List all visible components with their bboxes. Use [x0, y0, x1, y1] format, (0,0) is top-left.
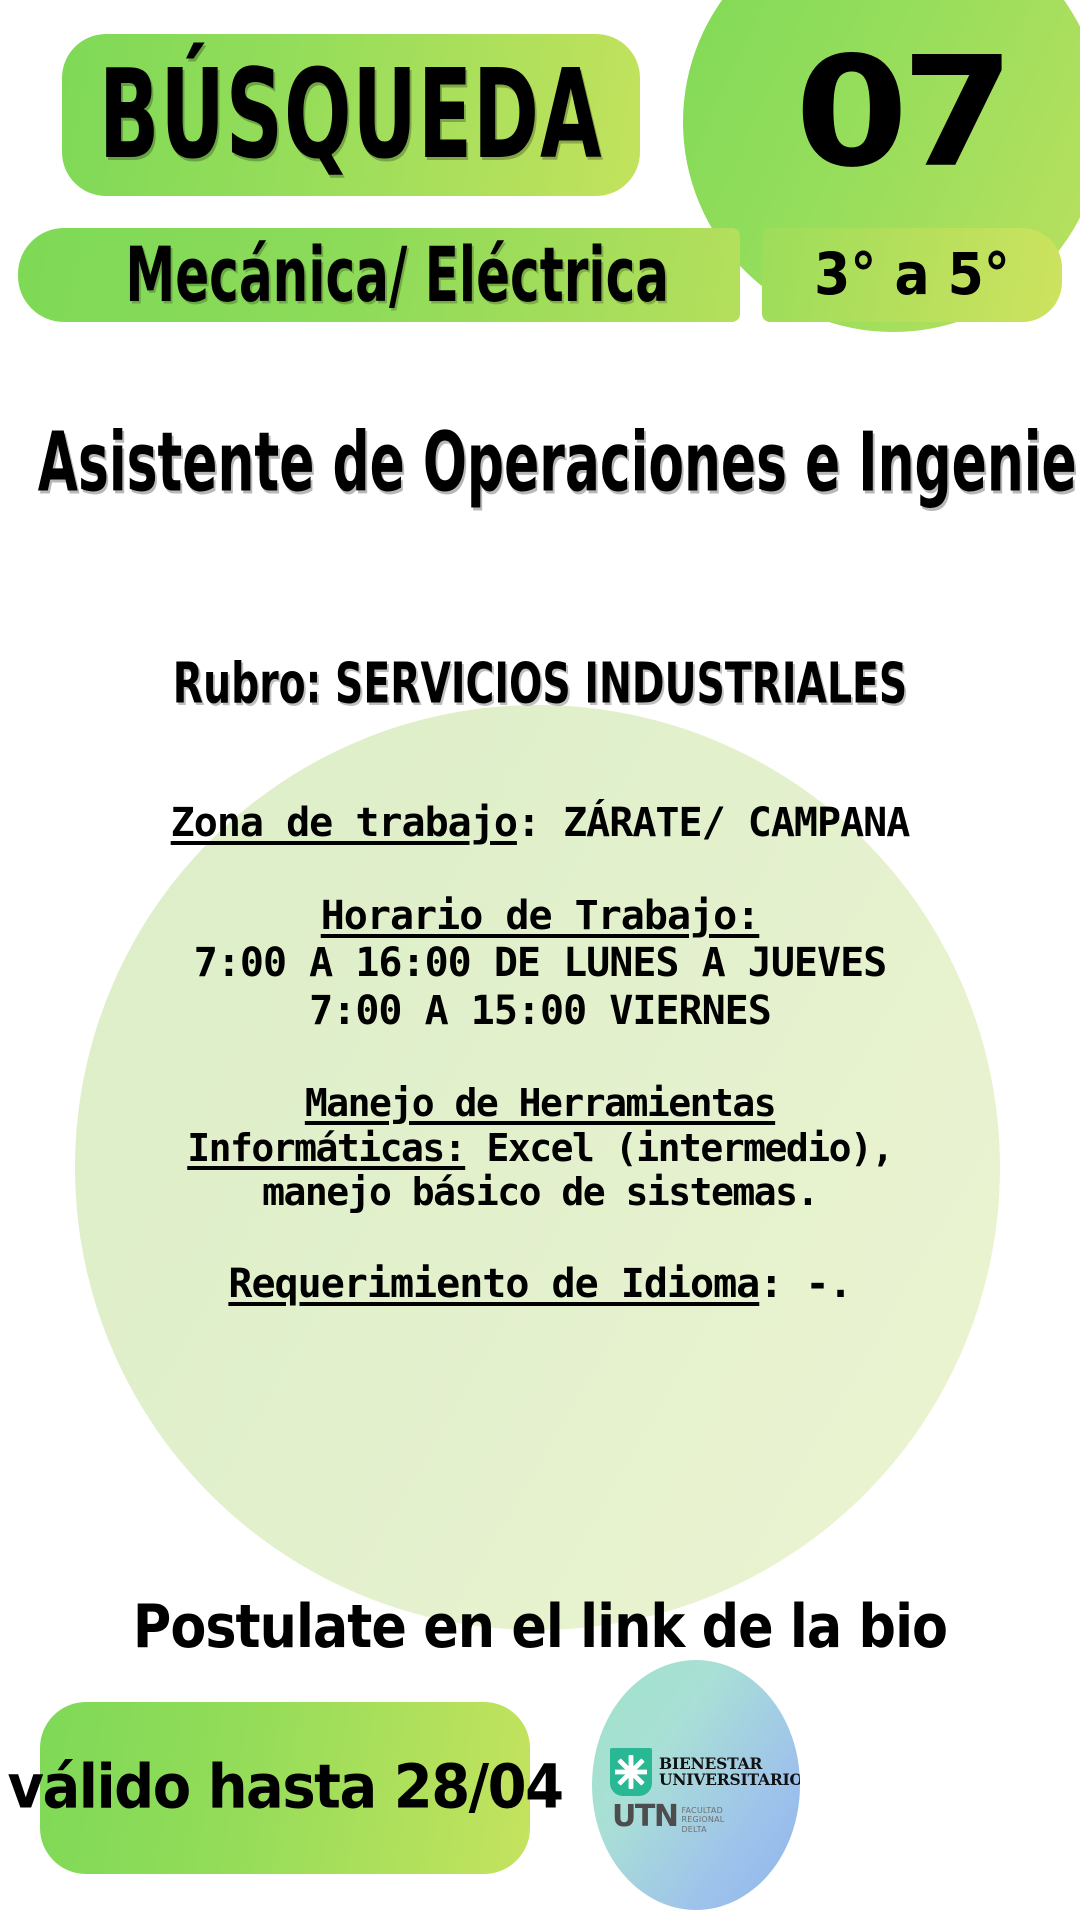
detail-language-value: -. [805, 1261, 851, 1307]
logo-wordmark-line-2: UNIVERSITARIO [659, 1772, 800, 1788]
tag-pill-row: Mecánica/ Eléctrica 3° a 5° [0, 228, 1080, 322]
detail-schedule-line-1: 7:00 A 16:00 DE LUNES A JUEVES [34, 940, 1046, 987]
detail-zone-label: Zona de trabajo [171, 800, 517, 846]
detail-tools-value-line-2: manejo básico de sistemas. [34, 1170, 1046, 1215]
utn-faculty-line-2: REGIONAL [681, 1815, 724, 1824]
discipline-pill: Mecánica/ Eléctrica [18, 228, 740, 322]
detail-schedule-line-2: 7:00 A 15:00 VIERNES [34, 988, 1046, 1035]
detail-language-line: Requerimiento de Idioma: -. [34, 1261, 1046, 1308]
detail-zone: Zona de trabajo: ZÁRATE/ CAMPANA [0, 800, 1080, 847]
detail-tools-label-line-2: Informáticas: Excel (intermedio), [34, 1126, 1046, 1171]
detail-language-separator: : [759, 1261, 782, 1307]
utn-faculty-text: FACULTAD REGIONAL DELTA [681, 1803, 724, 1834]
logo-content: BIENESTAR UNIVERSITARIO UTN FACULTAD REG… [610, 1748, 786, 1834]
job-posting-poster: 07 BÚSQUEDA Mecánica/ Eléctrica 3° a 5° … [0, 0, 1080, 1920]
issue-number-label: 07 [795, 37, 1007, 189]
argentina-sun-shield-icon [610, 1748, 652, 1796]
job-title: Asistente de Operaciones e Ingeniería [38, 422, 1042, 504]
detail-tools-label-2: Informáticas: [187, 1126, 465, 1170]
logo-primary-row: BIENESTAR UNIVERSITARIO [610, 1748, 786, 1796]
apply-call-to-action: Postulate en el link de la bio [16, 1597, 1064, 1656]
year-range-label: 3° a 5° [814, 246, 1010, 304]
detail-language: Requerimiento de Idioma: -. [0, 1261, 1080, 1308]
utn-faculty-line-3: DELTA [681, 1825, 724, 1834]
valid-until-button: válido hasta 28/04 [40, 1702, 530, 1874]
detail-zone-line: Zona de trabajo: ZÁRATE/ CAMPANA [34, 800, 1046, 847]
utn-wordmark: UTN [612, 1803, 677, 1830]
sector-value: SERVICIOS INDUSTRIALES [335, 650, 907, 716]
logo-wordmark: BIENESTAR UNIVERSITARIO [659, 1756, 800, 1788]
detail-language-label: Requerimiento de Idioma [228, 1261, 759, 1307]
utn-bienestar-logo-badge: BIENESTAR UNIVERSITARIO UTN FACULTAD REG… [592, 1660, 800, 1910]
valid-until-label: válido hasta 28/04 [7, 1758, 562, 1818]
detail-schedule: Horario de Trabajo: 7:00 A 16:00 DE LUNE… [0, 893, 1080, 1035]
detail-tools-value-1: Excel (intermedio), [465, 1126, 893, 1170]
sector-label: Rubro: [173, 650, 322, 716]
detail-schedule-label-line: Horario de Trabajo: [34, 893, 1046, 940]
sector-line: Rubro: SERVICIOS INDUSTRIALES [27, 655, 1053, 711]
discipline-label: Mecánica/ Eléctrica [125, 237, 669, 312]
job-details: Zona de trabajo: ZÁRATE/ CAMPANA Horario… [0, 800, 1080, 1354]
detail-schedule-label: Horario de Trabajo: [321, 893, 760, 939]
logo-secondary-row: UTN FACULTAD REGIONAL DELTA [610, 1803, 786, 1834]
search-banner-pill: BÚSQUEDA [62, 34, 640, 196]
utn-faculty-line-1: FACULTAD [681, 1806, 724, 1815]
detail-zone-value: ZÁRATE/ CAMPANA [563, 800, 909, 846]
detail-tools-label-1: Manejo de Herramientas [305, 1081, 775, 1125]
detail-zone-separator: : [517, 800, 540, 846]
search-banner-label: BÚSQUEDA [99, 54, 602, 177]
detail-tools: Manejo de Herramientas Informáticas: Exc… [0, 1081, 1080, 1215]
year-range-pill: 3° a 5° [762, 228, 1062, 322]
detail-tools-label-line-1: Manejo de Herramientas [34, 1081, 1046, 1126]
